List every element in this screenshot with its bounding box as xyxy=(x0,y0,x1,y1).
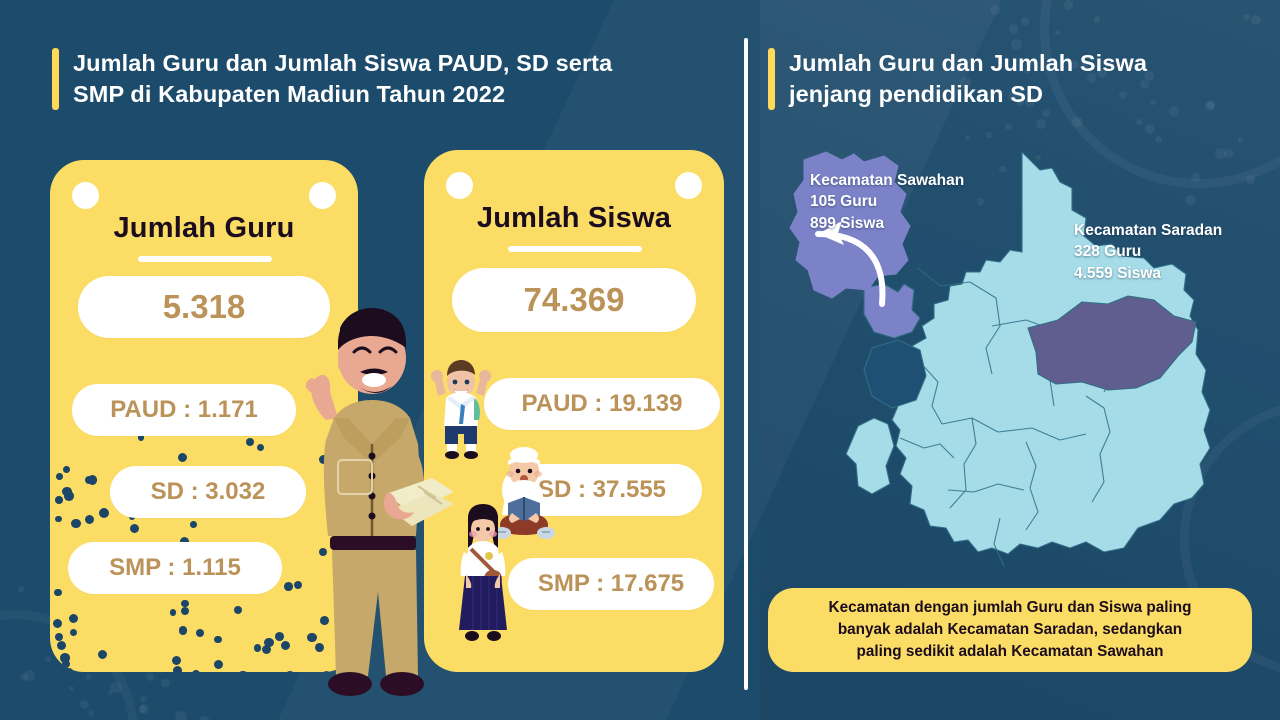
card-title-underline xyxy=(508,246,642,252)
card-hole-right-icon xyxy=(309,182,336,209)
map-label-sawahan: Kecamatan Sawahan 105 Guru 899 Siswa xyxy=(810,170,964,234)
panel-divider xyxy=(744,38,748,690)
card-row-siswa-paud: PAUD : 19.139 xyxy=(484,378,720,430)
student-cheering-illustration xyxy=(428,356,494,461)
card-title-siswa: Jumlah Siswa xyxy=(424,202,724,235)
card-title-underline xyxy=(138,256,272,262)
map-label-saradan: Kecamatan Saradan 328 Guru 4.559 Siswa xyxy=(1074,220,1222,284)
card-row-siswa-smp: SMP : 17.675 xyxy=(508,558,714,610)
map-region-dark xyxy=(864,340,926,408)
card-title-guru: Jumlah Guru xyxy=(50,212,358,245)
heading-accent-bar xyxy=(52,48,59,110)
left-heading-text: Jumlah Guru dan Jumlah Siswa PAUD, SD se… xyxy=(73,48,612,110)
right-panel-heading: Jumlah Guru dan Jumlah Siswa jenjang pen… xyxy=(768,48,1147,110)
left-panel-heading: Jumlah Guru dan Jumlah Siswa PAUD, SD se… xyxy=(52,48,612,110)
heading-accent-bar xyxy=(768,48,775,110)
card-total-siswa: 74.369 xyxy=(452,268,696,332)
card-row-guru-paud: PAUD : 1.171 xyxy=(72,384,296,436)
map-region-sawahan-inplace xyxy=(864,284,920,338)
infographic-canvas: Jumlah Guru dan Jumlah Siswa PAUD, SD se… xyxy=(0,0,1280,720)
map-summary-note: Kecamatan dengan jumlah Guru dan Siswa p… xyxy=(768,588,1252,672)
card-hole-left-icon xyxy=(446,172,473,199)
student-girl-illustration xyxy=(452,504,514,648)
card-hole-left-icon xyxy=(72,182,99,209)
card-hole-right-icon xyxy=(675,172,702,199)
card-row-guru-smp: SMP : 1.115 xyxy=(68,542,282,594)
right-heading-text: Jumlah Guru dan Jumlah Siswa jenjang pen… xyxy=(789,48,1147,110)
